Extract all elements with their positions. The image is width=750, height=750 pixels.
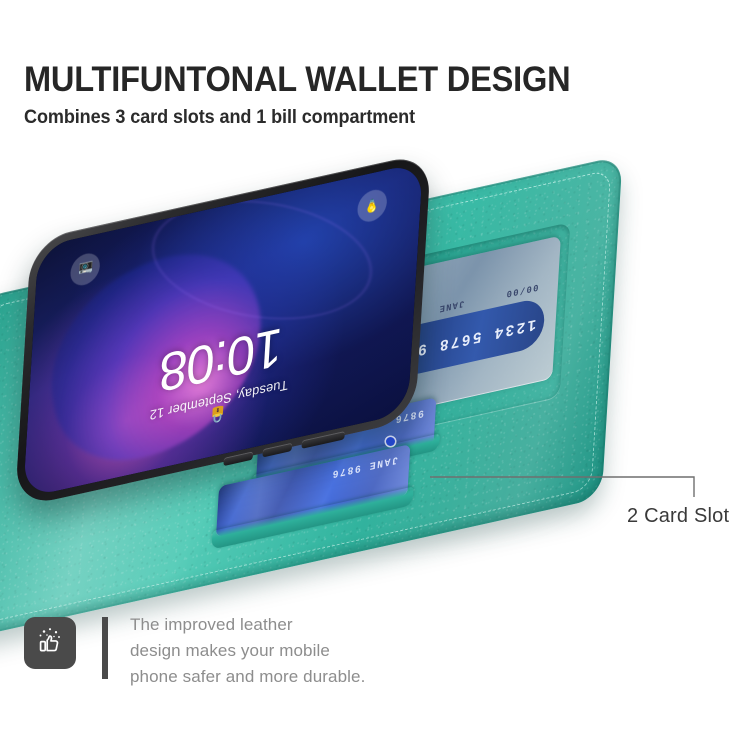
- feature-line-2: design makes your mobile: [130, 638, 365, 664]
- feature-divider: [102, 617, 108, 679]
- product-photo: 1234 5678 9876 00/00 JANE CREDIT 9876 JA…: [0, 185, 660, 605]
- thumbs-up-icon: [24, 617, 76, 669]
- callout-anchor-dot: [386, 437, 395, 446]
- feature-line-1: The improved leather: [130, 612, 365, 638]
- page-subtitle: Combines 3 card slots and 1 bill compart…: [24, 107, 689, 129]
- feature-line-3: phone safer and more durable.: [130, 664, 365, 690]
- page-title: MULTIFUNTONAL WALLET DESIGN: [24, 62, 675, 99]
- feature-description: The improved leather design makes your m…: [130, 612, 365, 689]
- feature-block: The improved leather design makes your m…: [24, 612, 365, 689]
- callout-label: 2 Card Slot: [627, 505, 729, 528]
- header-block: MULTIFUNTONAL WALLET DESIGN Combines 3 c…: [24, 62, 724, 129]
